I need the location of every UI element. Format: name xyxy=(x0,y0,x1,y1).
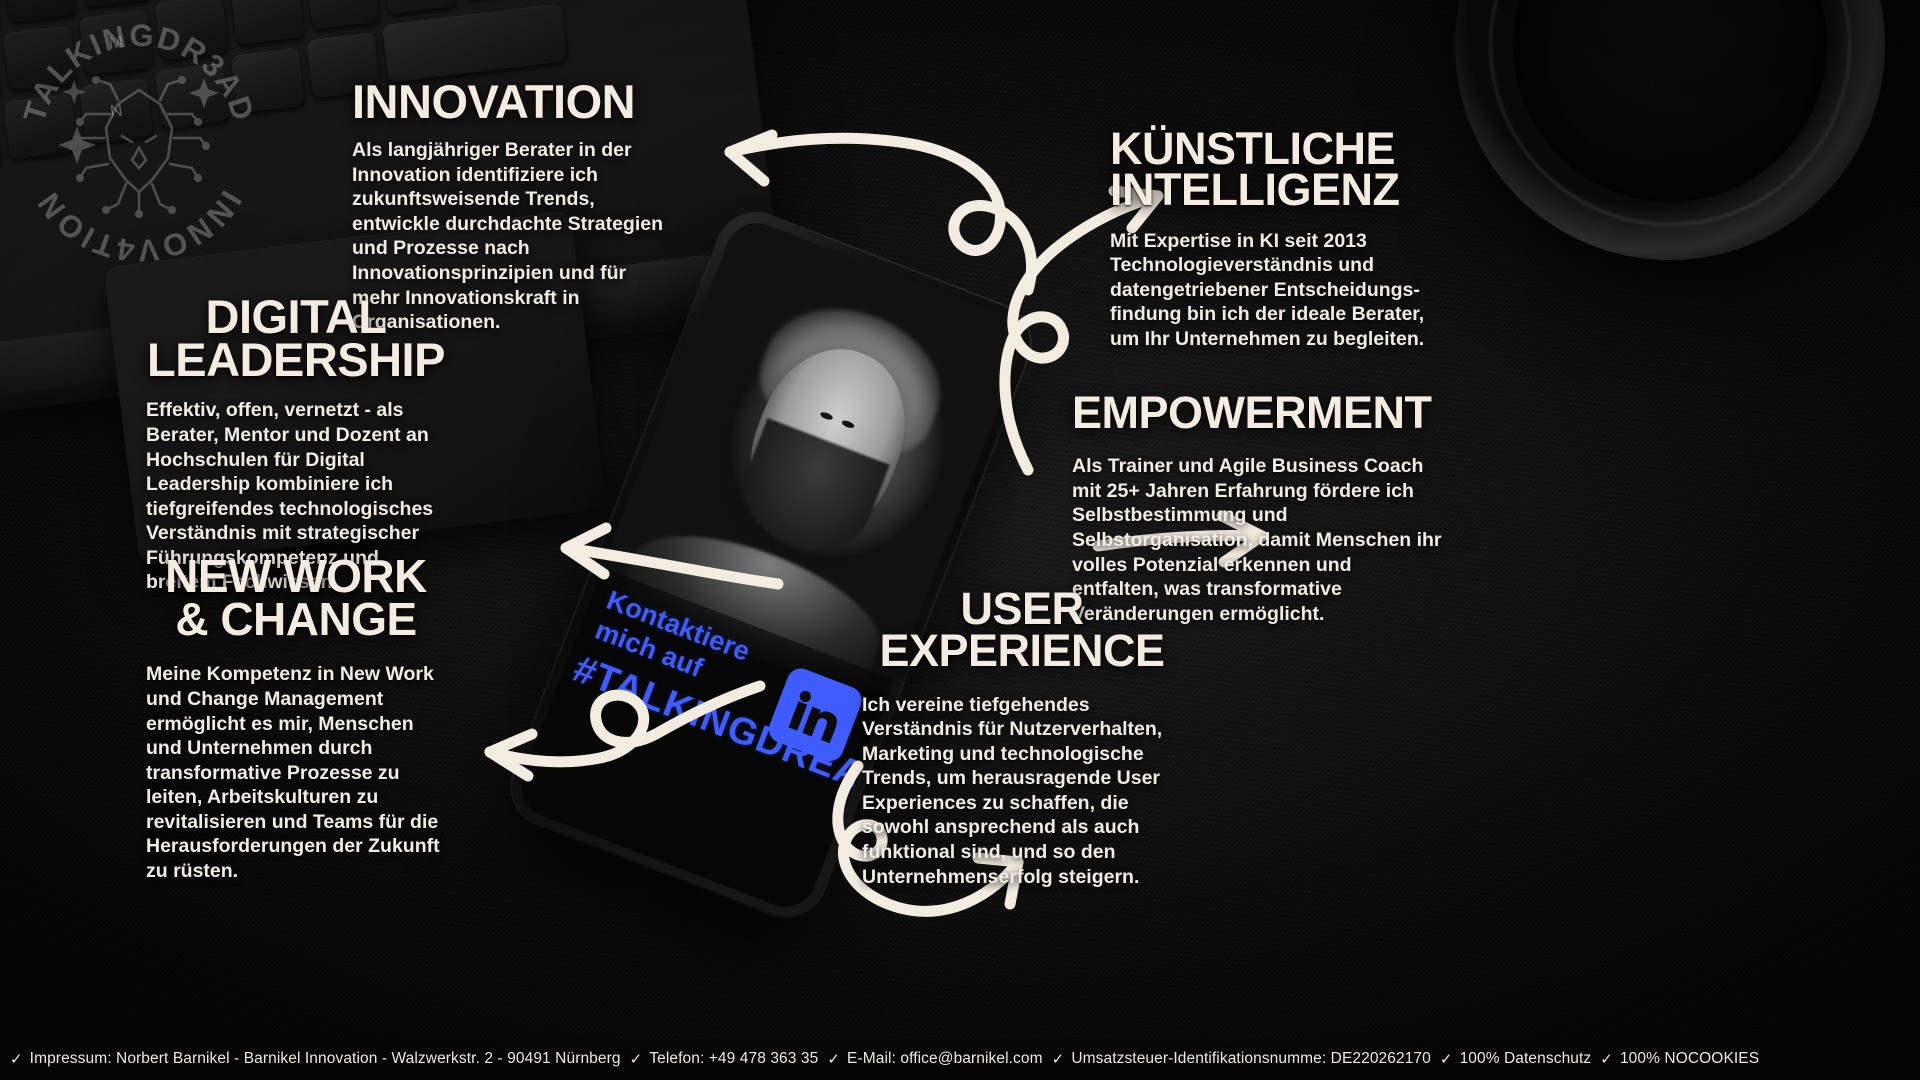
ki-heading-line-2: INTELLIGENZ xyxy=(1110,169,1455,210)
svg-text:TALKINGDR3AD: TALKINGDR3AD xyxy=(17,18,262,126)
ki-body: Mit Expertise in KI seit 2013 Technologi… xyxy=(1110,229,1455,352)
section-kuenstliche-intelligenz: KÜNSTLICHE INTELLIGENZ Mit Expertise in … xyxy=(1110,128,1455,352)
footer-item-nocookies: ✓ 100% NOCOOKIES xyxy=(1591,1050,1759,1068)
user-experience-heading-line-2: EXPERIENCE xyxy=(862,630,1182,672)
empowerment-heading: EMPOWERMENT xyxy=(1072,392,1442,434)
new-work-heading-line-2: & CHANGE xyxy=(146,598,446,641)
logo-top-text: TALKINGDR3AD xyxy=(17,18,262,126)
user-experience-heading-line-1: USER xyxy=(862,588,1182,630)
footer-item-telefon: ✓ Telefon: +49 478 363 35 xyxy=(621,1050,819,1068)
digital-leadership-heading-line-1: DIGITAL xyxy=(146,295,446,338)
new-work-body: Meine Kompetenz in New Work und Change M… xyxy=(146,662,446,883)
check-icon: ✓ xyxy=(1052,1050,1065,1068)
circuit-lion-head-icon xyxy=(72,80,206,214)
portrait-eye-right xyxy=(841,419,855,429)
innovation-heading: INNOVATION xyxy=(352,80,672,124)
section-user-experience: USER EXPERIENCE Ich vereine tiefgehendes… xyxy=(862,588,1182,889)
new-work-heading-line-1: NEW WORK xyxy=(146,555,446,598)
logo-wordmark-top: TALKINGDR3AD xyxy=(17,18,262,126)
footer-datenschutz-text: 100% Datenschutz xyxy=(1460,1050,1592,1068)
infographic-canvas: J X M C N xyxy=(0,0,1920,1080)
check-icon: ✓ xyxy=(1600,1050,1613,1068)
digital-leadership-heading-line-2: LEADERSHIP xyxy=(146,338,446,381)
user-experience-body: Ich vereine tiefgehendes Verständnis für… xyxy=(862,693,1172,890)
footer-item-email[interactable]: ✓ E-Mail: office@barnikel.com xyxy=(818,1050,1042,1068)
section-new-work-change: NEW WORK & CHANGE Meine Kompetenz in New… xyxy=(146,555,446,884)
footer-item-impressum: ✓ Impressum: Norbert Barnikel - Barnikel… xyxy=(10,1050,621,1068)
footer-telefon-text: Telefon: +49 478 363 35 xyxy=(649,1050,818,1068)
footer-item-datenschutz: ✓ 100% Datenschutz xyxy=(1431,1050,1591,1068)
portrait-eye-left xyxy=(820,411,834,421)
check-icon: ✓ xyxy=(827,1050,840,1068)
footer-impressum-text: Impressum: Norbert Barnikel - Barnikel I… xyxy=(30,1050,621,1068)
footer-email-text[interactable]: E-Mail: office@barnikel.com xyxy=(847,1050,1043,1068)
check-icon: ✓ xyxy=(630,1050,643,1068)
check-icon: ✓ xyxy=(1440,1050,1453,1068)
footer-nocookies-text: 100% NOCOOKIES xyxy=(1620,1050,1759,1068)
talkingdread-logo: TALKINGDR3AD INNOV4TION xyxy=(14,18,264,268)
footer-ustid-text: Umsatzsteuer-Identifikationsnumme: DE220… xyxy=(1071,1050,1431,1068)
check-icon: ✓ xyxy=(10,1050,23,1068)
footer-item-ustid: ✓ Umsatzsteuer-Identifikationsnumme: DE2… xyxy=(1043,1050,1431,1068)
footer-legal-bar: ✓ Impressum: Norbert Barnikel - Barnikel… xyxy=(0,1038,1920,1080)
